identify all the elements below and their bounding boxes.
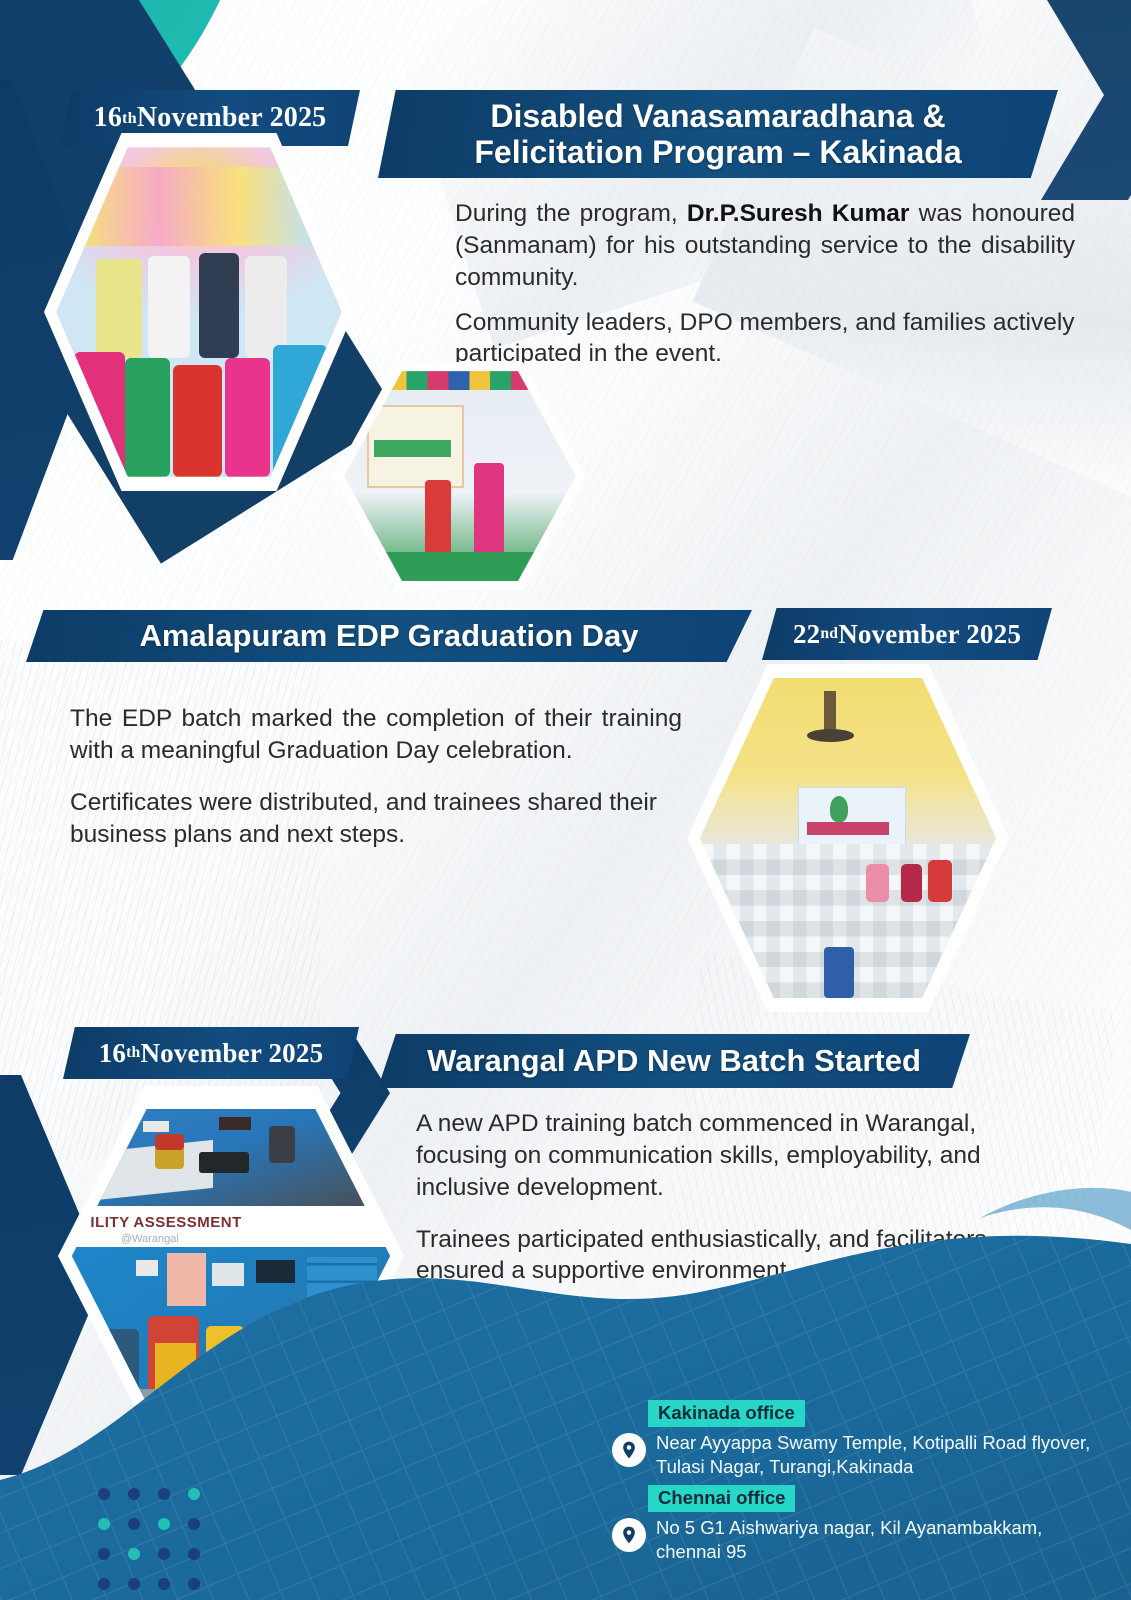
paragraph-1: A new APD training batch commenced in Wa… [416, 1108, 1071, 1204]
office-address-row: Near Ayyappa Swamy Temple, Kotipalli Roa… [612, 1431, 1112, 1478]
paragraph-2: Community leaders, DPO members, and fami… [455, 307, 1075, 371]
photo-frame: ILITY ASSESSMENT @Warangal [72, 1100, 390, 1413]
address-line-2: Tulasi Nagar, Turangi,Kakinada [656, 1455, 1090, 1479]
address-line-1: Near Ayyappa Swamy Temple, Kotipalli Roa… [656, 1431, 1090, 1455]
date-suffix: th [126, 1044, 140, 1062]
date-suffix: nd [820, 625, 838, 643]
section-body-amalapuram: The EDP batch marked the completion of t… [70, 703, 682, 850]
photo-frame [56, 147, 341, 476]
section-title-line-2: Felicitation Program – Kakinada [474, 134, 961, 170]
section-title-warangal: Warangal APD New Batch Started [378, 1034, 970, 1088]
paragraph-1: During the program, Dr.P.Suresh Kumar wa… [455, 198, 1075, 294]
date-day: 16 [99, 1038, 126, 1069]
dot-grid-right [1012, 1243, 1114, 1345]
photo-overlay-title: ILITY ASSESSMENT [90, 1214, 241, 1231]
section-title-amalapuram: Amalapuram EDP Graduation Day [26, 610, 752, 662]
date-rest: November 2025 [137, 102, 327, 134]
paragraph-1-before: During the program, [455, 200, 687, 227]
section-title-kakinada: Disabled Vanasamaradhana & Felicitation … [378, 90, 1058, 178]
location-pin-icon [612, 1518, 646, 1552]
paragraph-2: Certificates were distributed, and train… [70, 787, 682, 851]
office-tag-chennai: Chennai office [648, 1485, 795, 1512]
date-suffix: th [122, 109, 137, 128]
date-rest: November 2025 [140, 1038, 323, 1069]
photo-image [344, 371, 576, 581]
photo-image: ILITY ASSESSMENT @Warangal [72, 1100, 390, 1413]
date-rest: November 2025 [838, 619, 1021, 650]
date-badge-amalapuram: 22nd November 2025 [762, 608, 1052, 660]
photo-image [56, 147, 341, 476]
section-body-warangal: A new APD training batch commenced in Wa… [416, 1108, 1071, 1287]
address-line-1: No 5 G1 Aishwariya nagar, Kil Ayanambakk… [656, 1516, 1042, 1540]
date-day: 16 [94, 102, 122, 134]
paragraph-2: Trainees participated enthusiastically, … [416, 1224, 1071, 1288]
section-body-kakinada: During the program, Dr.P.Suresh Kumar wa… [455, 198, 1075, 370]
dot-grid-bottom-left [98, 1488, 200, 1590]
office-address-row: No 5 G1 Aishwariya nagar, Kil Ayanambakk… [612, 1516, 1112, 1563]
office-kakinada: Kakinada office Near Ayyappa Swamy Templ… [612, 1400, 1112, 1478]
office-address-kakinada: Near Ayyappa Swamy Temple, Kotipalli Roa… [656, 1431, 1090, 1478]
highlighted-name: Dr.P.Suresh Kumar [687, 200, 910, 227]
paragraph-1: The EDP batch marked the completion of t… [70, 703, 682, 767]
photo-frame [344, 371, 576, 581]
date-badge-warangal: 16th November 2025 [63, 1027, 359, 1079]
section-title-line-1: Disabled Vanasamaradhana & [474, 98, 961, 134]
address-line-2: chennai 95 [656, 1540, 1042, 1564]
date-day: 22 [793, 619, 820, 650]
office-address-chennai: No 5 G1 Aishwariya nagar, Kil Ayanambakk… [656, 1516, 1042, 1563]
location-pin-icon [612, 1433, 646, 1467]
section-title-text: Warangal APD New Batch Started [427, 1043, 921, 1078]
newsletter-page: 16th November 2025 Disabled Vanasamaradh… [0, 0, 1131, 1600]
photo-overlay-subtitle: @Warangal [121, 1233, 179, 1245]
photo-image [700, 678, 996, 998]
office-chennai: Chennai office No 5 G1 Aishwariya nagar,… [612, 1485, 1112, 1563]
photo-frame [700, 678, 996, 998]
office-tag-kakinada: Kakinada office [648, 1400, 805, 1427]
section-title-text: Amalapuram EDP Graduation Day [139, 618, 638, 653]
